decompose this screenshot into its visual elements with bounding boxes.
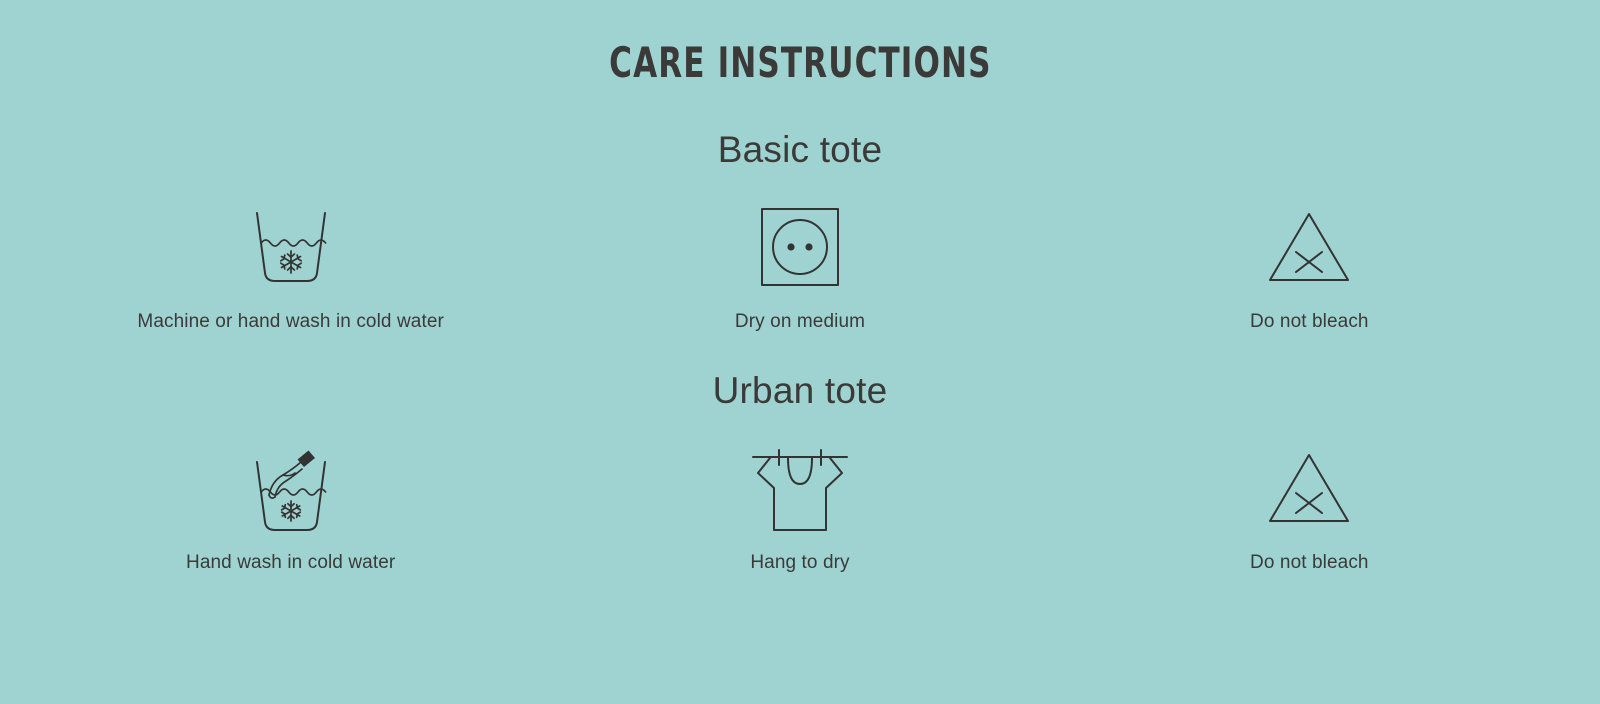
care-item-caption: Dry on medium [735,311,865,334]
care-item: Machine or hand wash in cold water [36,199,545,334]
tumble-dry-medium-icon [759,199,841,295]
care-item-caption: Do not bleach [1250,552,1369,575]
do-not-bleach-icon [1266,199,1352,295]
care-section-urban-tote: Urban tote [0,371,1600,574]
section-heading: Basic tote [0,130,1600,171]
care-item: Hang to dry [545,440,1054,575]
wash-tub-cold-icon [245,199,337,295]
section-heading: Urban tote [0,371,1600,412]
care-instructions-page: CARE INSTRUCTIONS Basic tote [0,0,1600,704]
hang-to-dry-icon [750,440,850,536]
do-not-bleach-icon [1266,440,1352,536]
care-item-caption: Do not bleach [1250,311,1369,334]
care-section-basic-tote: Basic tote [0,130,1600,333]
hand-wash-cold-icon [245,440,337,536]
care-item-caption: Machine or hand wash in cold water [137,311,444,334]
care-item: Do not bleach [1055,440,1564,575]
care-item-caption: Hang to dry [750,552,849,575]
care-icon-row: Machine or hand wash in cold water Dry o… [0,199,1600,334]
page-title: CARE INSTRUCTIONS [609,42,991,84]
care-item: Hand wash in cold water [36,440,545,575]
care-item-caption: Hand wash in cold water [186,552,395,575]
care-item: Do not bleach [1055,199,1564,334]
care-item: Dry on medium [545,199,1054,334]
care-icon-row: Hand wash in cold water Hang to dry [0,440,1600,575]
